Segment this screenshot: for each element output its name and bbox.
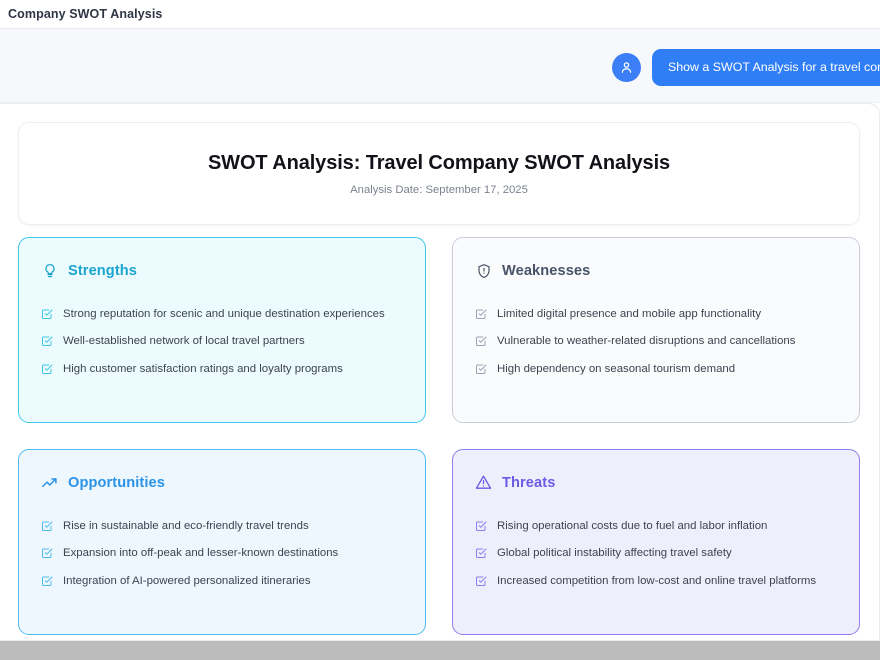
list-item-text: Well-established network of local travel… [63, 334, 305, 348]
check-square-icon [475, 520, 487, 532]
report-title: SWOT Analysis: Travel Company SWOT Analy… [208, 152, 670, 175]
list-item-text: Expansion into off-peak and lesser-known… [63, 546, 338, 560]
check-square-icon [41, 335, 53, 347]
trending-up-icon [41, 474, 58, 491]
quadrant-title-threats: Threats [502, 475, 555, 491]
list-item-text: High dependency on seasonal tourism dema… [497, 362, 735, 376]
user-message-bubble: Show a SWOT Analysis for a travel compan… [652, 49, 880, 86]
item-list-weaknesses: Limited digital presence and mobile app … [475, 307, 837, 376]
item-list-strengths: Strong reputation for scenic and unique … [41, 307, 403, 376]
lightbulb-icon [41, 262, 58, 279]
report-date: Analysis Date: September 17, 2025 [350, 184, 528, 196]
quadrant-header-opportunities: Opportunities [41, 474, 403, 491]
report-panel: SWOT Analysis: Travel Company SWOT Analy… [0, 103, 880, 641]
check-square-icon [475, 308, 487, 320]
list-item: Increased competition from low-cost and … [475, 574, 837, 588]
list-item: Integration of AI-powered personalized i… [41, 574, 403, 588]
app-titlebar: Company SWOT Analysis [0, 0, 880, 28]
item-list-opportunities: Rise in sustainable and eco-friendly tra… [41, 519, 403, 588]
list-item: Strong reputation for scenic and unique … [41, 307, 403, 321]
report-header-card: SWOT Analysis: Travel Company SWOT Analy… [18, 122, 860, 225]
quadrant-header-threats: Threats [475, 474, 837, 491]
warning-triangle-icon [475, 474, 492, 491]
list-item: High dependency on seasonal tourism dema… [475, 362, 837, 376]
list-item-text: Rising operational costs due to fuel and… [497, 519, 767, 533]
quadrant-header-weaknesses: Weaknesses [475, 262, 837, 279]
app-title: Company SWOT Analysis [8, 7, 162, 21]
list-item-text: Global political instability affecting t… [497, 546, 732, 560]
list-item: Rising operational costs due to fuel and… [475, 519, 837, 533]
quadrant-weaknesses: Weaknesses Limited digital presence and … [452, 237, 860, 423]
bottom-strip [0, 641, 880, 660]
list-item: Global political instability affecting t… [475, 546, 837, 560]
check-square-icon [41, 575, 53, 587]
list-item-text: High customer satisfaction ratings and l… [63, 362, 343, 376]
user-message-row: Show a SWOT Analysis for a travel compan… [612, 49, 880, 86]
list-item: Limited digital presence and mobile app … [475, 307, 837, 321]
list-item-text: Strong reputation for scenic and unique … [63, 307, 385, 321]
quadrant-header-strengths: Strengths [41, 262, 403, 279]
user-icon [619, 60, 634, 75]
user-avatar [612, 53, 641, 82]
list-item-text: Vulnerable to weather-related disruption… [497, 334, 795, 348]
quadrant-title-strengths: Strengths [68, 263, 137, 279]
quadrant-strengths: Strengths Strong reputation for scenic a… [18, 237, 426, 423]
list-item-text: Increased competition from low-cost and … [497, 574, 816, 588]
list-item: Well-established network of local travel… [41, 334, 403, 348]
chat-message-band: Show a SWOT Analysis for a travel compan… [0, 28, 880, 103]
check-square-icon [475, 335, 487, 347]
quadrant-threats: Threats Rising operational costs due to … [452, 449, 860, 635]
check-square-icon [475, 575, 487, 587]
check-square-icon [41, 363, 53, 375]
list-item-text: Integration of AI-powered personalized i… [63, 574, 311, 588]
quadrant-opportunities: Opportunities Rise in sustainable and ec… [18, 449, 426, 635]
item-list-threats: Rising operational costs due to fuel and… [475, 519, 837, 588]
swot-quadrant-grid: Strengths Strong reputation for scenic a… [18, 237, 860, 635]
list-item: Expansion into off-peak and lesser-known… [41, 546, 403, 560]
list-item: Rise in sustainable and eco-friendly tra… [41, 519, 403, 533]
check-square-icon [475, 547, 487, 559]
shield-alert-icon [475, 262, 492, 279]
list-item: Vulnerable to weather-related disruption… [475, 334, 837, 348]
list-item-text: Rise in sustainable and eco-friendly tra… [63, 519, 309, 533]
list-item-text: Limited digital presence and mobile app … [497, 307, 761, 321]
check-square-icon [475, 363, 487, 375]
check-square-icon [41, 520, 53, 532]
quadrant-title-opportunities: Opportunities [68, 475, 165, 491]
quadrant-title-weaknesses: Weaknesses [502, 263, 590, 279]
check-square-icon [41, 547, 53, 559]
check-square-icon [41, 308, 53, 320]
list-item: High customer satisfaction ratings and l… [41, 362, 403, 376]
